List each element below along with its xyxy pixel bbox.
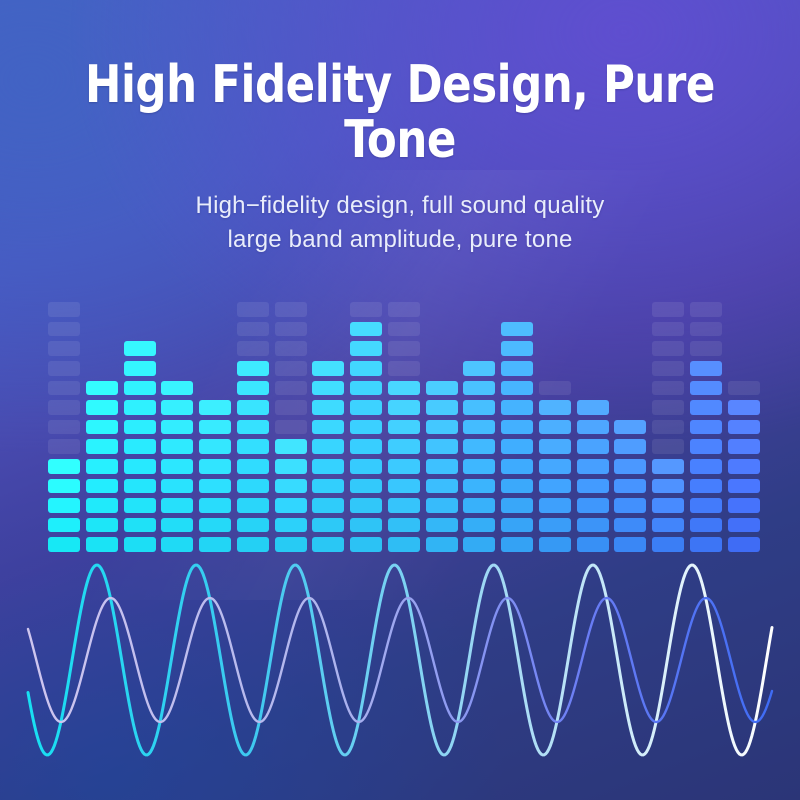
- equalizer-segment-inactive: [652, 439, 684, 454]
- equalizer-segment-inactive: [237, 322, 269, 337]
- equalizer-segment-active: [312, 361, 344, 376]
- equalizer-segment-active: [161, 381, 193, 396]
- equalizer-segment-inactive: [275, 420, 307, 435]
- equalizer-segment-active: [614, 439, 646, 454]
- equalizer-segment-active: [388, 381, 420, 396]
- equalizer-segment-active: [577, 420, 609, 435]
- equalizer-segment-active: [539, 498, 571, 513]
- equalizer-segment-inactive: [388, 322, 420, 337]
- equalizer-segment-inactive: [690, 322, 722, 337]
- equalizer-column: [161, 296, 193, 552]
- equalizer-segment-active: [48, 459, 80, 474]
- equalizer-segment-active: [728, 518, 760, 533]
- equalizer-segment-active: [614, 459, 646, 474]
- equalizer-segment-active: [199, 518, 231, 533]
- equalizer-segment-active: [539, 439, 571, 454]
- equalizer-segment-active: [161, 459, 193, 474]
- equalizer-segment-active: [426, 420, 458, 435]
- equalizer-segment-active: [237, 479, 269, 494]
- equalizer-segment-active: [350, 420, 382, 435]
- equalizer-segment-active: [690, 420, 722, 435]
- equalizer-segment-active: [501, 479, 533, 494]
- equalizer-segment-active: [124, 498, 156, 513]
- equalizer-segment-inactive: [48, 361, 80, 376]
- equalizer-segment-active: [388, 479, 420, 494]
- equalizer-segment-active: [312, 439, 344, 454]
- header: High Fidelity Design, Pure Tone High−fid…: [0, 0, 800, 257]
- equalizer-column: [652, 296, 684, 552]
- subtitle-line-2: large band amplitude, pure tone: [0, 223, 800, 257]
- equalizer-segment-active: [237, 439, 269, 454]
- equalizer-segment-inactive: [652, 381, 684, 396]
- equalizer-segment-active: [48, 479, 80, 494]
- equalizer-segment-active: [690, 439, 722, 454]
- equalizer-segment-active: [86, 459, 118, 474]
- equalizer-segment-active: [124, 479, 156, 494]
- equalizer-segment-inactive: [690, 302, 722, 317]
- equalizer-segment-inactive: [652, 420, 684, 435]
- equalizer-segment-active: [463, 420, 495, 435]
- equalizer-segment-inactive: [388, 341, 420, 356]
- equalizer-segment-active: [350, 439, 382, 454]
- equalizer-column: [124, 296, 156, 552]
- equalizer-segment-inactive: [652, 341, 684, 356]
- equalizer-segment-active: [86, 420, 118, 435]
- equalizer-segment-active: [501, 498, 533, 513]
- page-subtitle: High−fidelity design, full sound quality…: [0, 189, 800, 257]
- equalizer-segment-inactive: [539, 381, 571, 396]
- equalizer-segment-active: [690, 459, 722, 474]
- equalizer-segment-inactive: [652, 400, 684, 415]
- equalizer-segment-active: [312, 420, 344, 435]
- equalizer-segment-active: [614, 420, 646, 435]
- equalizer-segment-inactive: [48, 341, 80, 356]
- equalizer-segment-active: [577, 518, 609, 533]
- equalizer-segment-active: [426, 459, 458, 474]
- equalizer-segment-active: [48, 518, 80, 533]
- equalizer-segment-active: [124, 341, 156, 356]
- equalizer-segment-active: [124, 420, 156, 435]
- equalizer-segment-inactive: [48, 420, 80, 435]
- equalizer-segment-active: [614, 479, 646, 494]
- equalizer-segment-inactive: [48, 322, 80, 337]
- equalizer-column: [350, 296, 382, 552]
- equalizer-segment-active: [199, 420, 231, 435]
- equalizer-segment-active: [577, 479, 609, 494]
- equalizer-segment-active: [199, 479, 231, 494]
- equalizer-segment-active: [577, 459, 609, 474]
- equalizer-segment-active: [48, 498, 80, 513]
- equalizer-segment-active: [690, 518, 722, 533]
- equalizer-segment-active: [463, 381, 495, 396]
- equalizer-segment-active: [199, 498, 231, 513]
- equalizer-segment-active: [237, 400, 269, 415]
- equalizer-segment-active: [426, 479, 458, 494]
- equalizer-segment-active: [577, 498, 609, 513]
- equalizer-column: [388, 296, 420, 552]
- equalizer-segment-active: [652, 479, 684, 494]
- equalizer-segment-active: [728, 498, 760, 513]
- equalizer-segment-active: [426, 498, 458, 513]
- equalizer-segment-active: [161, 400, 193, 415]
- equalizer-segment-active: [124, 381, 156, 396]
- equalizer-segment-active: [312, 498, 344, 513]
- equalizer-segment-active: [690, 381, 722, 396]
- equalizer-segment-active: [388, 439, 420, 454]
- equalizer-segment-active: [124, 361, 156, 376]
- equalizer-segment-active: [124, 459, 156, 474]
- equalizer-segment-active: [463, 361, 495, 376]
- subtitle-line-1: High−fidelity design, full sound quality: [0, 189, 800, 223]
- equalizer-column: [237, 296, 269, 552]
- equalizer-segment-inactive: [48, 302, 80, 317]
- audio-equalizer: [48, 296, 760, 552]
- equalizer-segment-active: [350, 518, 382, 533]
- equalizer-segment-active: [312, 479, 344, 494]
- equalizer-segment-inactive: [690, 341, 722, 356]
- equalizer-segment-active: [539, 459, 571, 474]
- equalizer-segment-active: [312, 381, 344, 396]
- equalizer-segment-active: [275, 479, 307, 494]
- equalizer-segment-active: [86, 439, 118, 454]
- equalizer-column: [463, 296, 495, 552]
- equalizer-segment-inactive: [48, 381, 80, 396]
- equalizer-segment-inactive: [275, 400, 307, 415]
- equalizer-segment-active: [350, 341, 382, 356]
- equalizer-segment-active: [463, 400, 495, 415]
- equalizer-segment-active: [312, 459, 344, 474]
- equalizer-segment-active: [463, 459, 495, 474]
- equalizer-segment-active: [350, 322, 382, 337]
- equalizer-segment-active: [426, 400, 458, 415]
- equalizer-segment-active: [312, 400, 344, 415]
- equalizer-segment-active: [652, 459, 684, 474]
- equalizer-segment-active: [388, 459, 420, 474]
- equalizer-segment-active: [652, 518, 684, 533]
- equalizer-segment-inactive: [275, 302, 307, 317]
- equalizer-segment-active: [86, 400, 118, 415]
- equalizer-segment-active: [463, 518, 495, 533]
- equalizer-segment-active: [161, 518, 193, 533]
- equalizer-segment-inactive: [652, 322, 684, 337]
- equalizer-segment-active: [501, 361, 533, 376]
- equalizer-segment-inactive: [350, 302, 382, 317]
- equalizer-column: [690, 296, 722, 552]
- equalizer-segment-active: [426, 439, 458, 454]
- equalizer-segment-inactive: [728, 381, 760, 396]
- equalizer-segment-active: [577, 439, 609, 454]
- equalizer-column: [275, 296, 307, 552]
- equalizer-segment-inactive: [237, 341, 269, 356]
- equalizer-segment-active: [161, 439, 193, 454]
- equalizer-segment-active: [539, 420, 571, 435]
- equalizer-segment-active: [237, 381, 269, 396]
- equalizer-segment-inactive: [388, 302, 420, 317]
- equalizer-segment-active: [237, 498, 269, 513]
- equalizer-segment-active: [463, 479, 495, 494]
- equalizer-segment-inactive: [275, 381, 307, 396]
- equalizer-segment-active: [388, 400, 420, 415]
- equalizer-segment-active: [690, 361, 722, 376]
- equalizer-column: [501, 296, 533, 552]
- equalizer-column: [48, 296, 80, 552]
- equalizer-segment-active: [463, 498, 495, 513]
- equalizer-segment-inactive: [652, 361, 684, 376]
- equalizer-segment-active: [124, 439, 156, 454]
- equalizer-segment-active: [275, 439, 307, 454]
- equalizer-segment-active: [199, 439, 231, 454]
- equalizer-segment-inactive: [275, 341, 307, 356]
- equalizer-segment-active: [275, 459, 307, 474]
- equalizer-segment-active: [237, 459, 269, 474]
- equalizer-segment-active: [237, 420, 269, 435]
- equalizer-segment-active: [161, 479, 193, 494]
- equalizer-segment-active: [86, 518, 118, 533]
- equalizer-segment-active: [539, 518, 571, 533]
- equalizer-segment-active: [350, 400, 382, 415]
- equalizer-segment-active: [275, 518, 307, 533]
- equalizer-segment-inactive: [652, 302, 684, 317]
- equalizer-column: [86, 296, 118, 552]
- equalizer-segment-active: [501, 459, 533, 474]
- equalizer-segment-active: [275, 498, 307, 513]
- equalizer-segment-active: [501, 341, 533, 356]
- equalizer-column: [199, 296, 231, 552]
- equalizer-column: [426, 296, 458, 552]
- equalizer-segment-inactive: [388, 361, 420, 376]
- equalizer-segment-active: [124, 400, 156, 415]
- equalizer-column: [577, 296, 609, 552]
- equalizer-segment-active: [426, 518, 458, 533]
- equalizer-segment-active: [577, 400, 609, 415]
- equalizer-segment-inactive: [275, 322, 307, 337]
- equalizer-segment-active: [690, 400, 722, 415]
- equalizer-column: [728, 296, 760, 552]
- page-title: High Fidelity Design, Pure Tone: [28, 58, 772, 167]
- equalizer-segment-active: [86, 498, 118, 513]
- equalizer-column: [614, 296, 646, 552]
- equalizer-segment-active: [86, 479, 118, 494]
- equalizer-segment-active: [388, 518, 420, 533]
- equalizer-segment-active: [161, 420, 193, 435]
- equalizer-segment-active: [539, 400, 571, 415]
- equalizer-segment-inactive: [237, 302, 269, 317]
- equalizer-segment-active: [350, 381, 382, 396]
- equalizer-segment-active: [501, 400, 533, 415]
- equalizer-segment-active: [614, 498, 646, 513]
- equalizer-segment-active: [350, 459, 382, 474]
- equalizer-segment-active: [199, 459, 231, 474]
- equalizer-segment-active: [350, 498, 382, 513]
- equalizer-segment-active: [237, 518, 269, 533]
- equalizer-segment-active: [501, 518, 533, 533]
- equalizer-segment-active: [728, 400, 760, 415]
- equalizer-segment-active: [501, 381, 533, 396]
- equalizer-segment-active: [614, 518, 646, 533]
- equalizer-segment-active: [501, 439, 533, 454]
- equalizer-segment-active: [652, 498, 684, 513]
- equalizer-segment-active: [199, 400, 231, 415]
- equalizer-segment-active: [463, 439, 495, 454]
- equalizer-segment-active: [728, 479, 760, 494]
- equalizer-segment-active: [350, 479, 382, 494]
- equalizer-segment-active: [728, 459, 760, 474]
- equalizer-segment-active: [690, 479, 722, 494]
- equalizer-segment-active: [86, 381, 118, 396]
- equalizer-segment-active: [350, 361, 382, 376]
- equalizer-column: [539, 296, 571, 552]
- equalizer-segment-active: [312, 518, 344, 533]
- equalizer-segment-active: [728, 439, 760, 454]
- equalizer-segment-active: [501, 420, 533, 435]
- dual-sine-waveform: [0, 548, 800, 778]
- equalizer-segment-active: [728, 420, 760, 435]
- equalizer-column: [312, 296, 344, 552]
- equalizer-segment-active: [161, 498, 193, 513]
- equalizer-segment-active: [237, 361, 269, 376]
- equalizer-segment-active: [388, 420, 420, 435]
- equalizer-segment-active: [426, 381, 458, 396]
- equalizer-segment-active: [124, 518, 156, 533]
- equalizer-segment-active: [539, 479, 571, 494]
- equalizer-segment-active: [690, 498, 722, 513]
- equalizer-segment-inactive: [48, 439, 80, 454]
- equalizer-segment-inactive: [48, 400, 80, 415]
- equalizer-segment-active: [388, 498, 420, 513]
- equalizer-segment-active: [501, 322, 533, 337]
- equalizer-segment-inactive: [275, 361, 307, 376]
